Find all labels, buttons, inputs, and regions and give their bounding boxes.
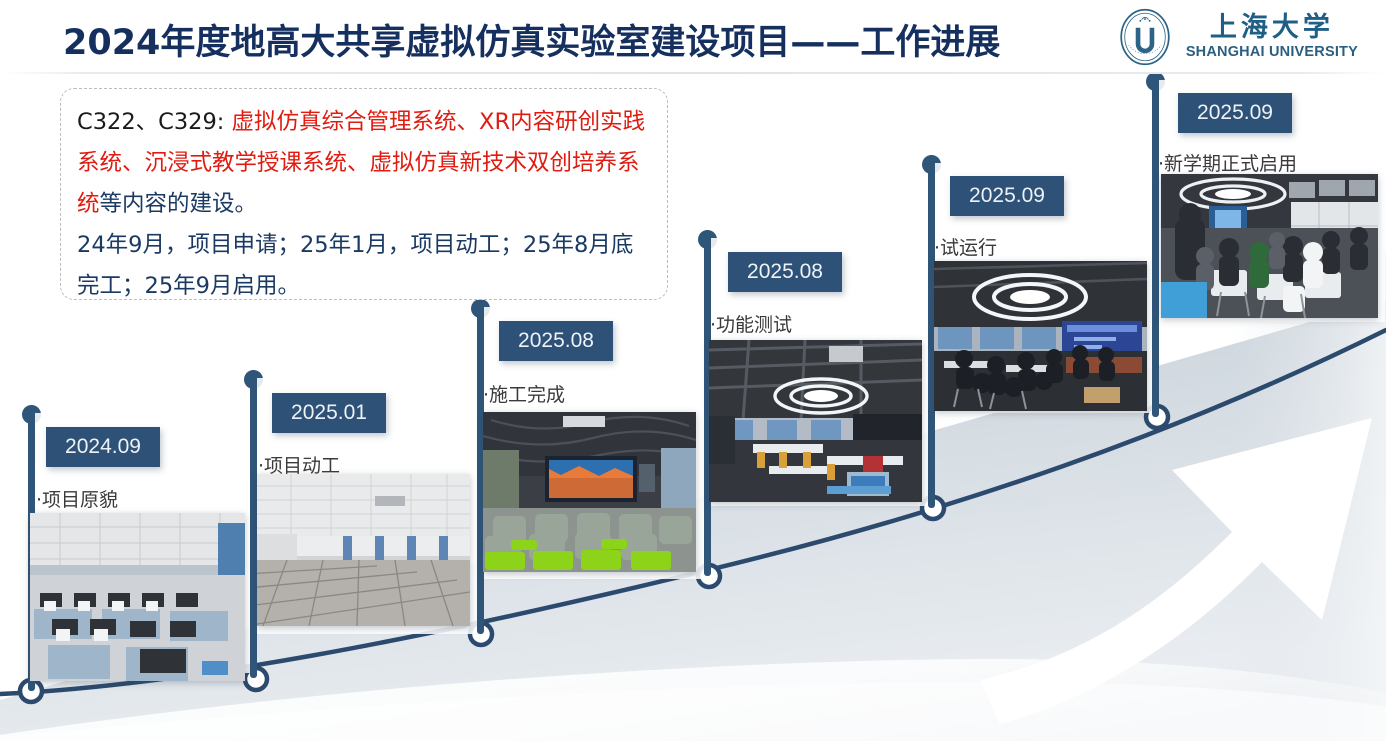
project-description-box: C322、C329: 虚拟仿真综合管理系统、XR内容研创实践 系统、沉浸式教学授… [60,88,668,300]
description-red-3: 统 [77,191,100,217]
milestone-stem [1152,80,1159,417]
description-line-5: 完工；25年9月启用。 [77,266,651,307]
description-blue-tail: 等内容的建设。 [100,191,258,217]
university-logo: 上海大学 SHANGHAI UNIVERSITY [1116,8,1358,66]
milestone-date-badge: 2025.08 [499,321,613,361]
milestone-caption: ·项目原貌 [36,485,118,512]
description-line-4: 24年9月，项目申请；25年1月，项目动工；25年8月底 [77,225,651,266]
description-red-1: 虚拟仿真综合管理系统、XR内容研创实践 [232,109,646,135]
logo-chinese-name: 上海大学 [1210,14,1334,41]
description-code-label: C322、C329: [77,109,232,135]
page-title: 2024年度地高大共享虚拟仿真实验室建设项目——工作进展 [63,14,1000,65]
milestone-caption: ·新学期正式启用 [1158,149,1297,176]
description-line-3: 统等内容的建设。 [77,184,651,225]
milestone-date-badge: 2025.09 [1178,93,1292,133]
milestone-photo-function-testing-room[interactable] [709,340,922,502]
description-blue-2: 完工；25年9月启用。 [77,273,300,299]
logo-english-name: SHANGHAI UNIVERSITY [1186,45,1358,60]
description-line-1: C322、C329: 虚拟仿真综合管理系统、XR内容研创实践 [77,102,651,143]
milestone-date-badge: 2025.09 [950,176,1064,216]
milestone-photo-empty-room-construction[interactable] [257,474,470,626]
milestone-photo-new-semester-classroom[interactable] [1161,174,1378,318]
slide-header: 2024年度地高大共享虚拟仿真实验室建设项目——工作进展 上海大学 SHANGH… [0,0,1386,74]
milestone-stem [250,378,257,678]
milestone-date-badge: 2025.01 [272,393,386,433]
description-line-2: 系统、沉浸式教学授课系统、虚拟仿真新技术双创培养系 [77,143,651,184]
shanghai-university-seal-icon [1116,8,1174,66]
slide-root: 2024年度地高大共享虚拟仿真实验室建设项目——工作进展 上海大学 SHANGH… [0,0,1386,741]
milestone-caption: ·试运行 [934,233,997,260]
milestone-caption: ·功能测试 [710,310,792,337]
milestone-photo-computer-lab-original[interactable] [30,513,245,681]
description-blue-1: 24年9月，项目申请；25年1月，项目动工；25年8月底 [77,232,633,258]
description-red-2: 系统、沉浸式教学授课系统、虚拟仿真新技术双创培养系 [77,150,640,176]
milestone-date-badge: 2024.09 [46,427,160,467]
milestone-date-badge: 2025.08 [728,252,842,292]
milestone-caption: ·施工完成 [483,380,565,407]
milestone-photo-trial-run-meeting[interactable] [934,261,1147,411]
milestone-photo-finished-lecture-hall[interactable] [483,412,696,572]
